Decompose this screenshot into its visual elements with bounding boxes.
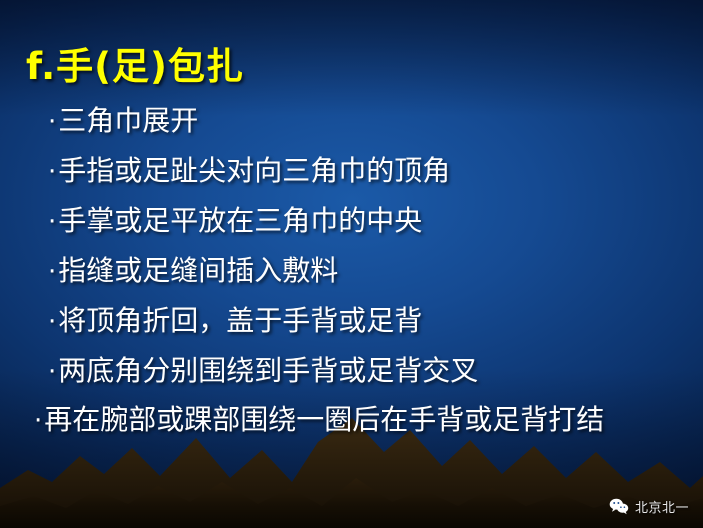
- bullet-marker-icon: ·: [48, 309, 56, 335]
- list-item-label: 指缝或足缝间插入敷料: [58, 254, 338, 287]
- list-item: ·指缝或足缝间插入敷料: [48, 246, 678, 296]
- list-item-label: 手掌或足平放在三角巾的中央: [58, 204, 422, 237]
- list-item: ·手指或足趾尖对向三角巾的顶角: [48, 146, 678, 196]
- list-item-label: 两底角分别围绕到手背或足背交叉: [58, 354, 478, 387]
- list-item-label: 手指或足趾尖对向三角巾的顶角: [58, 154, 450, 187]
- wechat-icon: [609, 498, 629, 515]
- bullet-list: ·三角巾展开 ·手指或足趾尖对向三角巾的顶角 ·手掌或足平放在三角巾的中央 ·指…: [48, 96, 678, 444]
- watermark-footer: 北京北一: [609, 497, 689, 516]
- bullet-marker-icon: ·: [34, 408, 42, 434]
- bullet-marker-icon: ·: [48, 359, 56, 385]
- list-item: ·手掌或足平放在三角巾的中央: [48, 196, 678, 246]
- bullet-marker-icon: ·: [48, 209, 56, 235]
- list-item-label: 将顶角折回，盖于手背或足背: [58, 304, 422, 337]
- bullet-marker-icon: ·: [48, 109, 56, 135]
- bullet-marker-icon: ·: [48, 259, 56, 285]
- slide-canvas: f.手(足)包扎 ·三角巾展开 ·手指或足趾尖对向三角巾的顶角 ·手掌或足平放在…: [0, 0, 703, 528]
- slide-title: f.手(足)包扎: [26, 36, 244, 90]
- watermark-label: 北京北一: [635, 497, 689, 516]
- list-item: ·三角巾展开: [48, 96, 678, 146]
- bullet-marker-icon: ·: [48, 159, 56, 185]
- list-item-label: 三角巾展开: [58, 104, 198, 137]
- list-item: ·两底角分别围绕到手背或足背交叉: [48, 346, 678, 396]
- list-item: ·再在腕部或踝部围绕一圈后在手背或足背打结: [34, 396, 689, 444]
- list-item: ·将顶角折回，盖于手背或足背: [48, 296, 678, 346]
- list-item-label: 再在腕部或踝部围绕一圈后在手背或足背打结: [44, 403, 604, 436]
